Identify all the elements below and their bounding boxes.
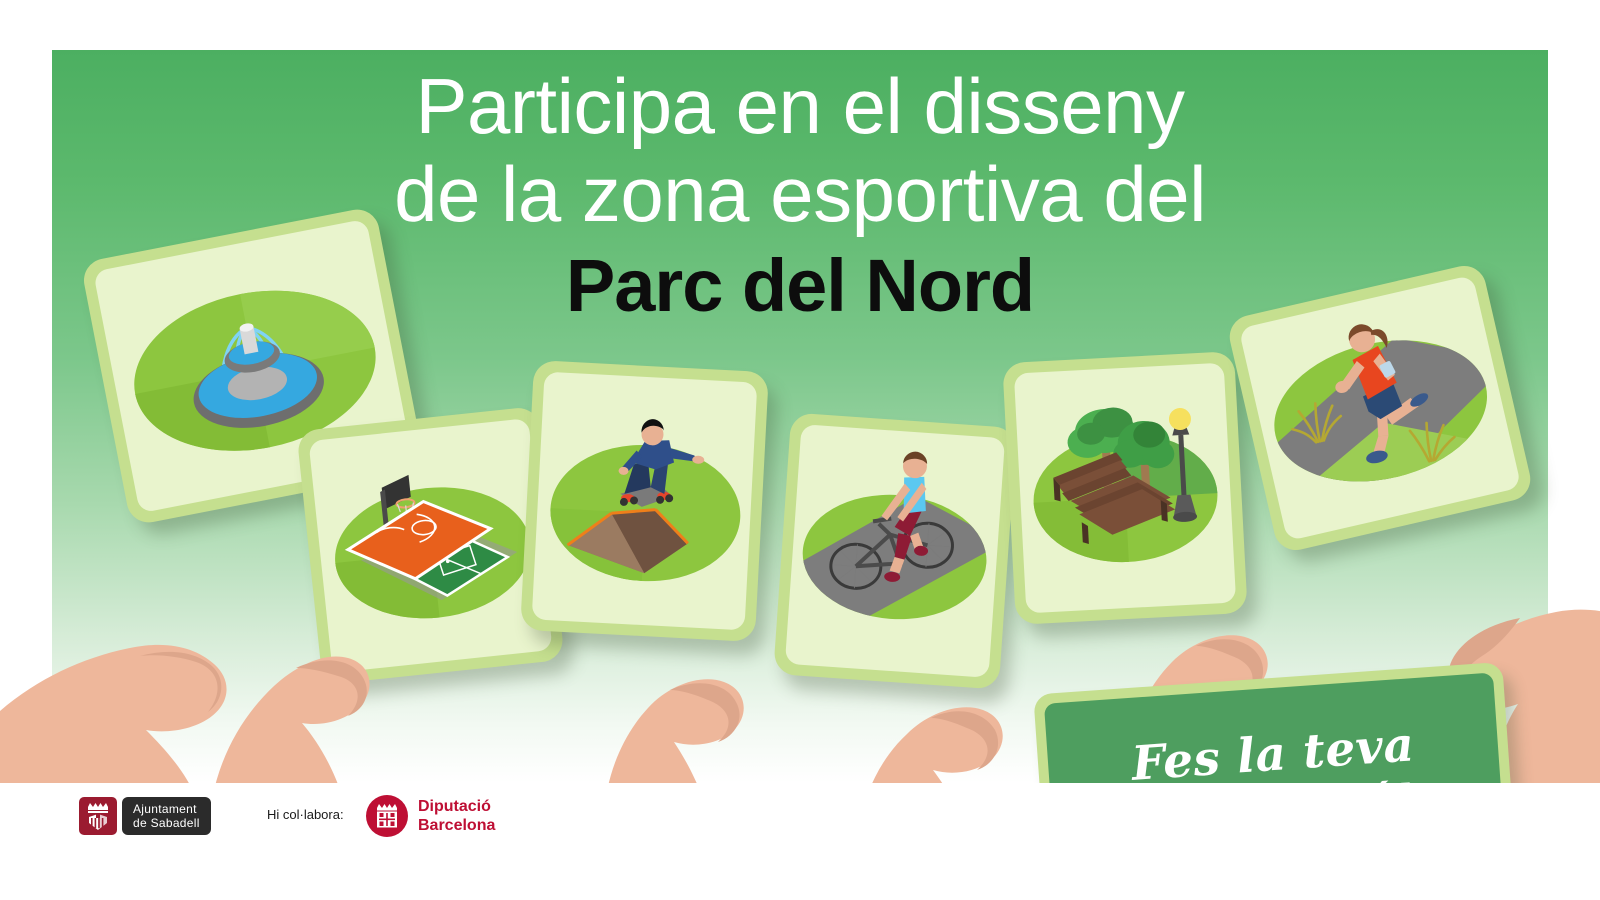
diputacio-line-2: Barcelona <box>418 816 495 835</box>
diputacio-crest-icon <box>366 795 408 837</box>
logo-ajuntament-sabadell[interactable]: Ajuntament de Sabadell <box>79 797 211 835</box>
diputacio-nameplate: Diputació Barcelona <box>418 797 495 835</box>
diputacio-line-1: Diputació <box>418 797 495 816</box>
footer-bar: Ajuntament de Sabadell Hi col·labora: <box>0 783 1600 900</box>
collaborate-label: Hi col·labora: <box>267 807 344 822</box>
sabadell-shield-icon <box>79 797 117 835</box>
poster-canvas: Participa en el disseny de la zona espor… <box>0 0 1600 900</box>
sabadell-nameplate: Ajuntament de Sabadell <box>122 797 211 835</box>
sabadell-line-2: de Sabadell <box>133 816 200 830</box>
logo-diputacio-barcelona[interactable]: Diputació Barcelona <box>366 795 495 837</box>
sabadell-line-1: Ajuntament <box>133 802 200 816</box>
